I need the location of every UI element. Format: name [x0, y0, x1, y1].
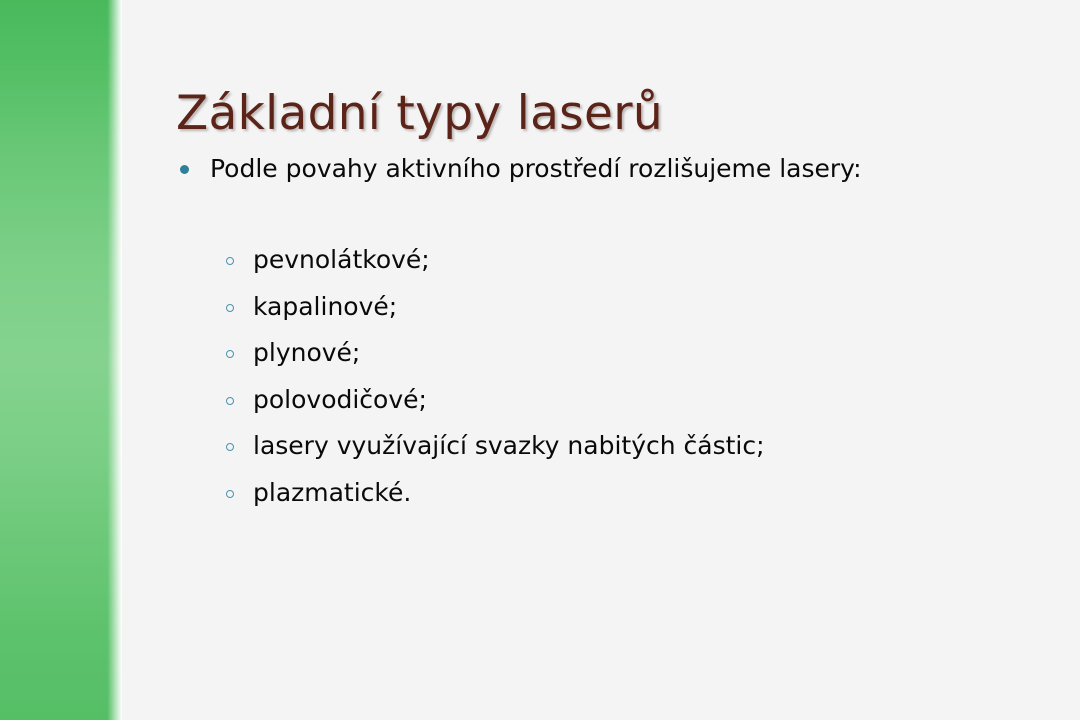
hollow-circle-bullet-icon — [226, 397, 234, 405]
bullet-level1-row: Podle povahy aktivního prostředí rozlišu… — [122, 152, 1080, 192]
hollow-circle-bullet-icon — [226, 304, 234, 312]
slide-content-area: Základní typy laserů Podle povahy aktivn… — [122, 0, 1080, 720]
slide-title: Základní typy laserů — [176, 86, 663, 142]
list-item: plazmatické. — [122, 477, 1080, 524]
list-item: lasery využívající svazky nabitých části… — [122, 430, 1080, 477]
list-item: polovodičové; — [122, 384, 1080, 431]
list-item-label: plazmatické. — [253, 477, 411, 509]
list-item: plynové; — [122, 337, 1080, 384]
list-item-label: lasery využívající svazky nabitých části… — [253, 430, 765, 462]
hollow-circle-bullet-icon — [226, 257, 234, 265]
hollow-circle-bullet-icon — [226, 350, 234, 358]
list-item: kapalinové; — [122, 291, 1080, 338]
slide-body: Podle povahy aktivního prostředí rozlišu… — [122, 152, 1080, 192]
list-item-label: kapalinové; — [253, 291, 397, 323]
list-item: pevnolátkové; — [122, 244, 1080, 291]
hollow-circle-bullet-icon — [226, 490, 234, 498]
bullet-level1-label: Podle povahy aktivního prostředí rozlišu… — [210, 152, 862, 186]
list-item-label: plynové; — [253, 337, 360, 369]
presentation-slide: Základní typy laserů Podle povahy aktivn… — [0, 0, 1080, 720]
filled-disc-bullet-icon — [180, 165, 189, 174]
side-band-gradient — [0, 0, 122, 720]
decorative-green-side-band — [0, 0, 122, 720]
hollow-circle-bullet-icon — [226, 443, 234, 451]
bullet-level2-list: pevnolátkové; kapalinové; plynové; polov… — [122, 244, 1080, 523]
list-item-label: pevnolátkové; — [253, 244, 430, 276]
list-item-label: polovodičové; — [253, 384, 427, 416]
